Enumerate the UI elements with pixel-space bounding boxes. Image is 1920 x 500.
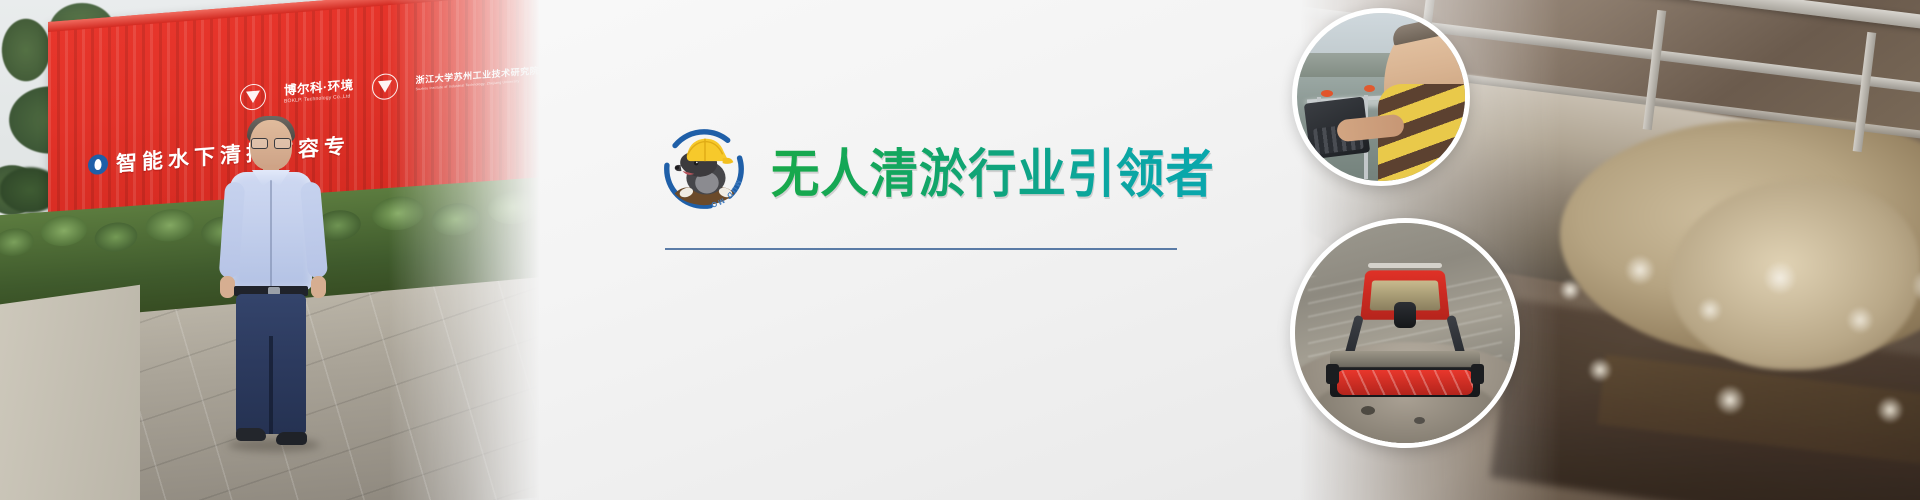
person-shoe-left <box>236 428 266 441</box>
boklp-logo-icon <box>240 83 266 111</box>
center-content: MUD MOLE 无人清淤行业引领者 <box>655 0 1275 500</box>
robot-motor <box>1394 302 1416 328</box>
person-hand-left <box>220 276 235 298</box>
boklp-brand-text: 博尔科·环境 BOKLP. Technology Co.,Ltd <box>284 79 354 105</box>
debris-rock-1 <box>1361 406 1375 415</box>
headline-row: MUD MOLE 无人清淤行业引领者 <box>655 120 1248 218</box>
pavement-edge <box>0 285 140 500</box>
person-shoe-right <box>276 432 307 445</box>
person-hand-right <box>311 276 326 298</box>
dredging-robot-auger-photo <box>1290 218 1520 448</box>
person-pants <box>236 294 306 434</box>
glasses-icon <box>251 138 291 147</box>
zju-logo-icon <box>372 73 398 101</box>
water-drop-icon <box>88 154 108 176</box>
operator-remote-control-photo <box>1292 8 1470 186</box>
mud-mole-logo: MUD MOLE <box>655 120 753 218</box>
buoy-1 <box>1321 90 1333 97</box>
auger-end-cap-right <box>1471 364 1484 384</box>
headline-divider <box>665 248 1177 250</box>
headline-text: 无人清淤行业引领者 <box>771 132 1215 207</box>
hero-banner: 博尔科·环境 BOKLP. Technology Co.,Ltd 浙江大学苏州工… <box>0 0 1920 500</box>
left-photo-container-and-person: 博尔科·环境 BOKLP. Technology Co.,Ltd 浙江大学苏州工… <box>0 0 540 500</box>
robot-auger-screw <box>1337 370 1473 394</box>
debris-rock-2 <box>1414 417 1425 424</box>
foam-texture <box>1530 250 1920 450</box>
auger-end-cap-left <box>1326 364 1339 384</box>
person-photo <box>218 120 328 440</box>
robot-roll-bar <box>1368 263 1443 268</box>
